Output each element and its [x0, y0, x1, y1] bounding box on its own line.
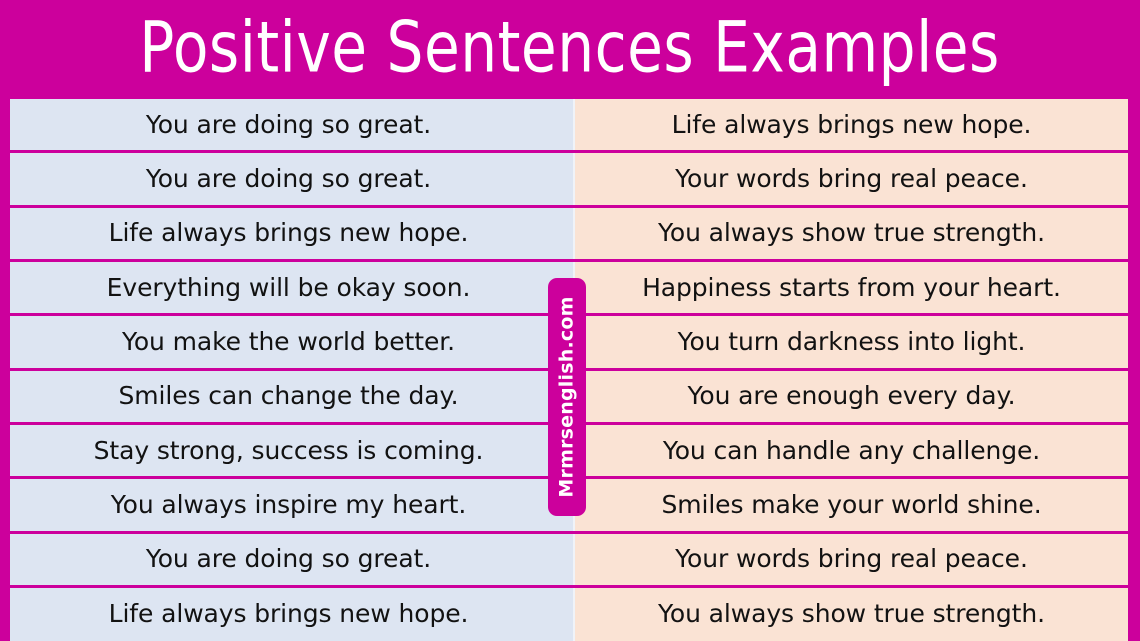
list-item: Life always brings new hope.	[10, 208, 575, 259]
sentence-text: You can handle any challenge.	[663, 437, 1040, 465]
sentence-text: You make the world better.	[122, 328, 455, 356]
list-item: You are enough every day.	[575, 371, 1128, 422]
watermark-label: Mrmrsenglish.com	[556, 296, 578, 497]
list-item: You make the world better.	[10, 316, 575, 367]
poster-root: Positive Sentences Examples You are doin…	[0, 0, 1140, 641]
sentence-text: Life always brings new hope.	[109, 219, 469, 247]
sentence-text: Everything will be okay soon.	[107, 274, 471, 302]
right-column: Life always brings new hope. Your words …	[575, 96, 1140, 641]
list-item: You are doing so great.	[10, 153, 575, 204]
sentence-text: You are doing so great.	[146, 545, 431, 573]
watermark-badge: Mrmrsenglish.com	[548, 278, 586, 516]
list-item: Smiles can change the day.	[10, 371, 575, 422]
list-item: Everything will be okay soon.	[10, 262, 575, 313]
list-item: You always show true strength.	[575, 208, 1128, 259]
sentence-text: You always show true strength.	[658, 600, 1045, 628]
list-item: You always show true strength.	[575, 588, 1128, 641]
sentence-text: Your words bring real peace.	[675, 165, 1028, 193]
sentence-text: You always show true strength.	[658, 219, 1045, 247]
sentence-text: Life always brings new hope.	[109, 600, 469, 628]
sentence-text: You are enough every day.	[688, 382, 1016, 410]
list-item: Life always brings new hope.	[10, 588, 575, 641]
list-item: Life always brings new hope.	[575, 99, 1128, 150]
sentence-text: Life always brings new hope.	[672, 111, 1032, 139]
list-item: You are doing so great.	[10, 534, 575, 585]
list-item: Happiness starts from your heart.	[575, 262, 1128, 313]
sentence-text: You always inspire my heart.	[111, 491, 466, 519]
list-item: You are doing so great.	[10, 99, 575, 150]
list-item: Stay strong, success is coming.	[10, 425, 575, 476]
header-band: Positive Sentences Examples	[0, 0, 1140, 96]
list-item: You always inspire my heart.	[10, 479, 575, 530]
list-item: Your words bring real peace.	[575, 534, 1128, 585]
list-item: Smiles make your world shine.	[575, 479, 1128, 530]
sentence-text: Stay strong, success is coming.	[94, 437, 484, 465]
page-title: Positive Sentences Examples	[140, 10, 1001, 86]
list-item: Your words bring real peace.	[575, 153, 1128, 204]
sentence-text: You are doing so great.	[146, 111, 431, 139]
sentence-text: Happiness starts from your heart.	[642, 274, 1061, 302]
sentence-text: You turn darkness into light.	[678, 328, 1026, 356]
list-item: You can handle any challenge.	[575, 425, 1128, 476]
sentence-text: Smiles can change the day.	[118, 382, 458, 410]
list-item: You turn darkness into light.	[575, 316, 1128, 367]
left-column: You are doing so great. You are doing so…	[0, 96, 575, 641]
sentence-text: Your words bring real peace.	[675, 545, 1028, 573]
sentence-text: You are doing so great.	[146, 165, 431, 193]
sentence-text: Smiles make your world shine.	[661, 491, 1041, 519]
